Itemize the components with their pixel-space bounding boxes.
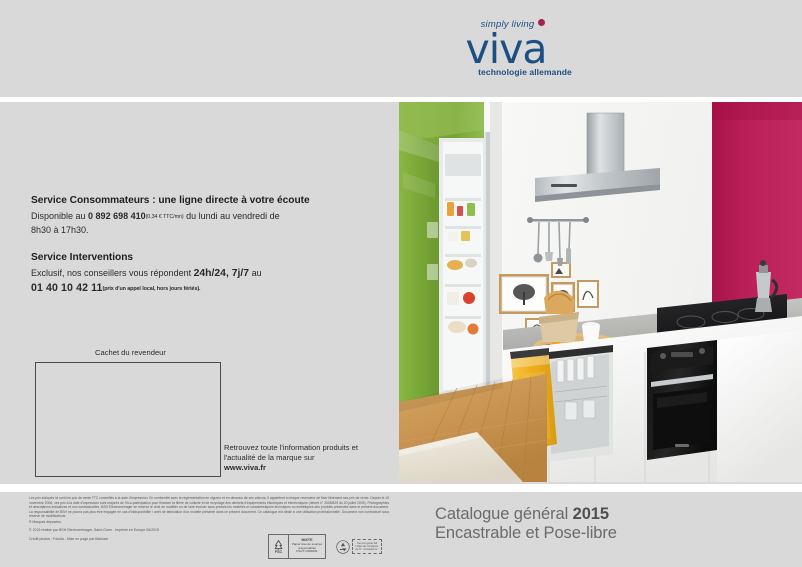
interventions-line-suffix: au (249, 268, 262, 278)
interventions-phone-cost-note: (prix d'un appel local, hors jours férié… (103, 286, 201, 292)
logo-tagline-top: simply living (481, 19, 546, 30)
fsc-certification-logo: FSC MIXTE Papier issu de sources respons… (268, 534, 326, 559)
fsc-code: FSC® C009401 (290, 550, 324, 554)
promo-website-link[interactable]: www.viva.fr (224, 463, 358, 473)
interventions-section: Service Interventions Exclusif, nos cons… (31, 252, 371, 294)
reseller-stamp-box (35, 362, 221, 477)
consumer-service-heading: Service Consommateurs : une ligne direct… (31, 195, 371, 206)
interventions-heading: Service Interventions (31, 252, 371, 263)
bread-basket (539, 291, 579, 342)
legal-copyright: © 2015 réalisé par BSH Electroménager, S… (29, 528, 389, 533)
eco-certifications: FSC MIXTE Papier issu de sources respons… (268, 534, 382, 559)
built-in-oven (647, 340, 717, 460)
catalogue-title-text: Catalogue général (435, 505, 573, 523)
logo-dot-icon (538, 19, 545, 26)
top-banner: simply living viva technologie allemande (0, 0, 802, 97)
recycle-arrows-icon (336, 540, 350, 554)
legal-trademark: ® Marques déposées. (29, 520, 389, 525)
interventions-phone-row: 01 40 10 42 11(prix d'un appel local, ho… (31, 282, 371, 294)
promo-line-2: l'actualité de la marque sur (224, 453, 358, 463)
promo-block: Retrouvez toute l'information produits e… (224, 443, 358, 474)
divider-bottom (0, 484, 802, 492)
consumer-phone-number: 0 892 698 410 (88, 211, 146, 221)
recycling-logo: Cet éco-geste fait l'objet de consignes … (336, 534, 382, 559)
interventions-availability: Exclusif, nos conseillers vous répondent… (31, 267, 371, 280)
viva-logo: simply living viva technologie allemande (436, 14, 576, 74)
logo-wordmark: viva (436, 30, 576, 68)
logo-tagline-top-text: simply living (481, 19, 535, 30)
contact-section: Service Consommateurs : une ligne direct… (31, 195, 371, 294)
catalogue-year: 2015 (573, 505, 609, 523)
reseller-stamp-label: Cachet du revendeur (95, 348, 166, 357)
legal-paragraph: Les prix indiqués ici sont les prix de v… (29, 496, 389, 519)
logo-tagline-bottom: technologie allemande (436, 67, 576, 77)
catalogue-title: Catalogue général 2015 Encastrable et Po… (435, 505, 617, 543)
fsc-details: MIXTE Papier issu de sources responsable… (289, 539, 325, 554)
interventions-phone-number: 01 40 10 42 11 (31, 282, 103, 294)
interventions-line-prefix: Exclusif, nos conseillers vous répondent (31, 268, 194, 278)
promo-line-1: Retrouvez toute l'information produits e… (224, 443, 358, 453)
recycling-note: Cet éco-geste fait l'objet de consignes … (352, 539, 382, 555)
consumer-line-prefix: Disponible au (31, 211, 88, 221)
fsc-tree-icon (274, 540, 283, 550)
fsc-label: FSC (275, 550, 282, 554)
consumer-service-availability: Disponible au 0 892 698 410(0,34 € TTC/m… (31, 210, 371, 224)
consumer-line-suffix: du lundi au vendredi de (184, 211, 280, 221)
back-cover-page: simply living viva technologie allemande… (0, 0, 802, 567)
catalogue-title-line-1: Catalogue général 2015 (435, 505, 617, 524)
consumer-phone-cost-note: (0,34 € TTC/mn) (146, 214, 184, 220)
catalogue-title-line-2: Encastrable et Pose-libre (435, 524, 617, 543)
kitchen-photo (399, 102, 802, 482)
interventions-hours: 24h/24, 7j/7 (194, 268, 249, 279)
consumer-service-hours: 8h30 à 17h30. (31, 224, 371, 237)
kitchen-photo-illustration (399, 102, 802, 482)
fsc-mark: FSC (269, 535, 289, 558)
